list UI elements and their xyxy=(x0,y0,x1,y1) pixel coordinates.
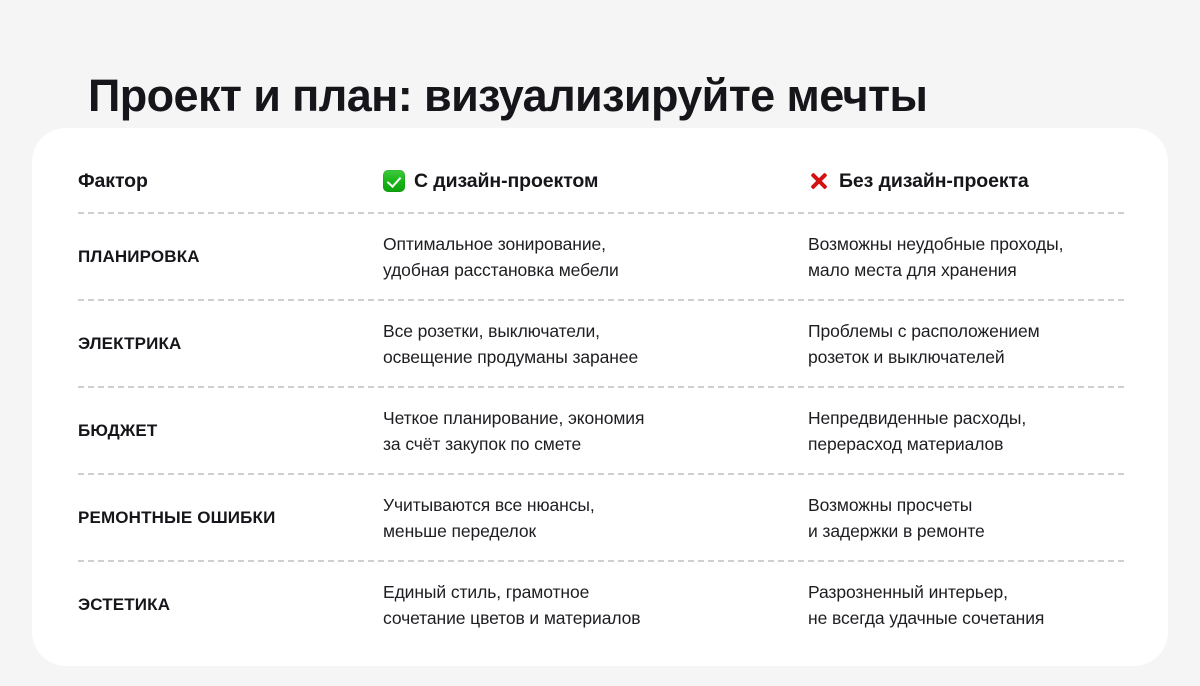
without-project-line-2: перерасход материалов xyxy=(808,431,1124,457)
row-without-project-cell: Возможны просчеты и задержки в ремонте xyxy=(808,492,1124,544)
with-project-line-2: меньше переделок xyxy=(383,518,794,544)
table-row: РЕМОНТНЫЕ ОШИБКИ Учитываются все нюансы,… xyxy=(78,475,1124,560)
with-project-text: Все розетки, выключатели, освещение прод… xyxy=(383,318,794,370)
cross-mark-icon xyxy=(808,170,830,192)
header-cell-without-project: Без дизайн-проекта xyxy=(808,170,1124,193)
white-check-mark-icon xyxy=(383,170,405,192)
with-project-line-1: Оптимальное зонирование, xyxy=(383,231,794,257)
without-project-line-1: Непредвиденные расходы, xyxy=(808,405,1124,431)
with-project-line-2: удобная расстановка мебели xyxy=(383,257,794,283)
page-title: Проект и план: визуализируйте мечты xyxy=(88,68,1148,124)
with-project-text: Учитываются все нюансы, меньше переделок xyxy=(383,492,794,544)
row-with-project-cell: Все розетки, выключатели, освещение прод… xyxy=(383,318,808,370)
with-project-line-1: Единый стиль, грамотное xyxy=(383,579,794,605)
row-without-project-cell: Проблемы с расположением розеток и выклю… xyxy=(808,318,1124,370)
row-with-project-cell: Четкое планирование, экономия за счёт за… xyxy=(383,405,808,457)
without-project-text: Возможны неудобные проходы, мало места д… xyxy=(808,231,1124,283)
comparison-card: Фактор С дизайн-проектом Без дизайн-прое… xyxy=(32,128,1168,666)
with-project-line-1: Учитываются все нюансы, xyxy=(383,492,794,518)
table-row: ПЛАНИРОВКА Оптимальное зонирование, удоб… xyxy=(78,214,1124,299)
table-row: ЭЛЕКТРИКА Все розетки, выключатели, осве… xyxy=(78,301,1124,386)
row-without-project-cell: Разрозненный интерьер, не всегда удачные… xyxy=(808,579,1124,631)
row-with-project-cell: Учитываются все нюансы, меньше переделок xyxy=(383,492,808,544)
without-project-line-2: и задержки в ремонте xyxy=(808,518,1124,544)
comparison-table: Фактор С дизайн-проектом Без дизайн-прое… xyxy=(78,150,1124,647)
with-project-text: Четкое планирование, экономия за счёт за… xyxy=(383,405,794,457)
row-with-project-cell: Единый стиль, грамотное сочетание цветов… xyxy=(383,579,808,631)
table-header-row: Фактор С дизайн-проектом Без дизайн-прое… xyxy=(78,150,1124,212)
without-project-text: Разрозненный интерьер, не всегда удачные… xyxy=(808,579,1124,631)
factor-label: ЭСТЕТИКА xyxy=(78,594,373,616)
row-without-project-cell: Возможны неудобные проходы, мало места д… xyxy=(808,231,1124,283)
header-cell-factor: Фактор xyxy=(78,170,383,193)
header-label-with-project: С дизайн-проектом xyxy=(414,170,598,193)
table-row: БЮДЖЕТ Четкое планирование, экономия за … xyxy=(78,388,1124,473)
row-factor-cell: ЭСТЕТИКА xyxy=(78,594,383,616)
without-project-line-2: розеток и выключателей xyxy=(808,344,1124,370)
row-without-project-cell: Непредвиденные расходы, перерасход матер… xyxy=(808,405,1124,457)
header-label-factor: Фактор xyxy=(78,170,148,192)
without-project-line-2: не всегда удачные сочетания xyxy=(808,605,1124,631)
factor-label: ЭЛЕКТРИКА xyxy=(78,333,373,355)
without-project-line-1: Проблемы с расположением xyxy=(808,318,1124,344)
row-factor-cell: ПЛАНИРОВКА xyxy=(78,246,383,268)
factor-label: БЮДЖЕТ xyxy=(78,420,373,442)
without-project-text: Проблемы с расположением розеток и выклю… xyxy=(808,318,1124,370)
comparison-infographic: Проект и план: визуализируйте мечты Факт… xyxy=(0,0,1200,686)
without-project-text: Возможны просчеты и задержки в ремонте xyxy=(808,492,1124,544)
without-project-line-1: Возможны просчеты xyxy=(808,492,1124,518)
header-label-without-project: Без дизайн-проекта xyxy=(839,170,1029,193)
with-project-line-2: за счёт закупок по смете xyxy=(383,431,794,457)
factor-label: ПЛАНИРОВКА xyxy=(78,246,373,268)
with-project-line-1: Все розетки, выключатели, xyxy=(383,318,794,344)
without-project-line-2: мало места для хранения xyxy=(808,257,1124,283)
without-project-line-1: Возможны неудобные проходы, xyxy=(808,231,1124,257)
without-project-text: Непредвиденные расходы, перерасход матер… xyxy=(808,405,1124,457)
row-with-project-cell: Оптимальное зонирование, удобная расстан… xyxy=(383,231,808,283)
row-factor-cell: РЕМОНТНЫЕ ОШИБКИ xyxy=(78,507,383,529)
factor-label: РЕМОНТНЫЕ ОШИБКИ xyxy=(78,507,373,529)
with-project-text: Оптимальное зонирование, удобная расстан… xyxy=(383,231,794,283)
row-factor-cell: БЮДЖЕТ xyxy=(78,420,383,442)
with-project-line-2: сочетание цветов и материалов xyxy=(383,605,794,631)
without-project-line-1: Разрозненный интерьер, xyxy=(808,579,1124,605)
row-factor-cell: ЭЛЕКТРИКА xyxy=(78,333,383,355)
header-cell-with-project: С дизайн-проектом xyxy=(383,170,808,193)
with-project-line-1: Четкое планирование, экономия xyxy=(383,405,794,431)
with-project-line-2: освещение продуманы заранее xyxy=(383,344,794,370)
with-project-text: Единый стиль, грамотное сочетание цветов… xyxy=(383,579,794,631)
table-row: ЭСТЕТИКА Единый стиль, грамотное сочетан… xyxy=(78,562,1124,647)
